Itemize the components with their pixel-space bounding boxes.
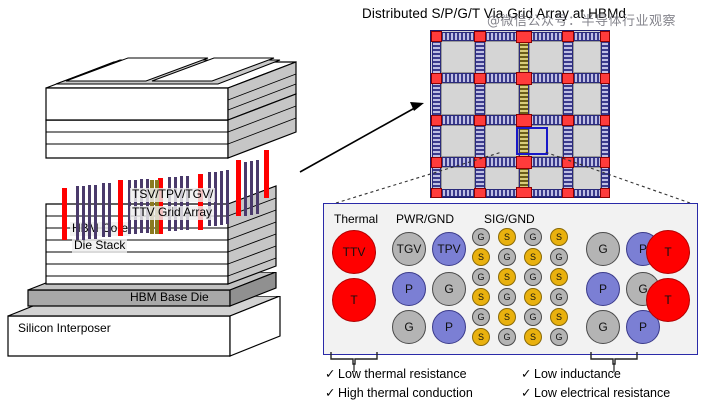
grid-node (474, 73, 486, 84)
grid-node (474, 157, 486, 168)
signal-via-s: S (498, 268, 516, 286)
group-label-thermal: Thermal (334, 212, 378, 226)
signal-via-s: S (472, 248, 490, 266)
grid-cell (573, 83, 601, 115)
grid-node (474, 31, 486, 42)
thermal-via-ttv: TTV (332, 230, 376, 274)
signal-via-s: S (550, 268, 568, 286)
grid-node (516, 114, 532, 127)
ground-via-g: G (524, 308, 542, 326)
grid-node (431, 157, 442, 168)
grid-node (600, 188, 610, 198)
grid-node (431, 115, 442, 126)
hbm-stack-diagram: Silicon Interposer HBM Base Die HBM Core… (0, 0, 330, 370)
ground-via-g: G (472, 308, 490, 326)
signal-via-s: S (498, 228, 516, 246)
grid-node (431, 188, 442, 198)
grid-cell (529, 41, 563, 73)
bullet-item: ✓Low inductance (521, 366, 621, 381)
grid-node (600, 31, 610, 42)
grid-node (600, 73, 610, 84)
via-array-label-line1: TSV/TPV/TGV/ (130, 188, 215, 202)
pwr-via-tpv: TPV (432, 232, 466, 266)
core-stack-label-line2: Die Stack (72, 239, 127, 253)
group-label-pwr-gnd: PWR/GND (396, 212, 454, 226)
grid-node (562, 73, 574, 84)
thermal-via-t: T (332, 278, 376, 322)
grid-node (600, 157, 610, 168)
signal-via-s: S (524, 248, 542, 266)
grid-node (562, 188, 574, 198)
pwr-via-g: G (432, 272, 466, 306)
interposer-label: Silicon Interposer (18, 322, 111, 336)
bullet-text: High thermal conduction (338, 386, 473, 400)
bullet-text: Low electrical resistance (534, 386, 670, 400)
signal-via-s: S (550, 308, 568, 326)
thermal-via-t: T (646, 278, 690, 322)
ground-via-g: G (472, 268, 490, 286)
grid-node (431, 31, 442, 42)
pwr-via-g: G (586, 310, 620, 344)
grid-highlight-region (516, 127, 548, 155)
bullet-item: ✓High thermal conduction (325, 385, 473, 400)
grid-node (474, 188, 486, 198)
bullet-text: Low inductance (534, 367, 621, 381)
grid-cell (485, 167, 519, 191)
thermal-via-t: T (646, 230, 690, 274)
ground-via-g: G (472, 228, 490, 246)
grid-cell (441, 83, 475, 115)
grid-node (516, 31, 532, 43)
check-icon: ✓ (325, 385, 338, 400)
bullet-item: ✓Low thermal resistance (325, 366, 467, 381)
grid-node (516, 156, 532, 169)
watermark: @微信公众号：半导体行业观察 (487, 10, 676, 29)
group-label-sig-gnd: SIG/GND (484, 212, 535, 226)
grid-cell (573, 41, 601, 73)
pwr-via-g: G (392, 310, 426, 344)
grid-cell (485, 83, 519, 115)
grid-cell (485, 125, 519, 157)
bullet-text: Low thermal resistance (338, 367, 467, 381)
signal-via-s: S (550, 228, 568, 246)
signal-via-s: S (472, 328, 490, 346)
ground-via-g: G (524, 228, 542, 246)
sig-gnd-grid: GSGSSGSGGSGSSGSGGSGSSGSG (472, 228, 580, 348)
grid-cell (573, 167, 601, 191)
grid-cell (573, 125, 601, 157)
check-icon: ✓ (521, 366, 534, 381)
signal-via-s: S (472, 288, 490, 306)
ground-via-g: G (550, 328, 568, 346)
ground-via-g: G (498, 288, 516, 306)
grid-cell (485, 41, 519, 73)
ground-via-g: G (550, 288, 568, 306)
signal-via-s: S (524, 328, 542, 346)
grid-cell (529, 167, 563, 191)
grid-node (562, 157, 574, 168)
bullet-item: ✓Low electrical resistance (521, 385, 670, 400)
via-grid-array (430, 30, 610, 198)
via-array-label-line2: TTV Grid Array (130, 206, 214, 220)
grid-node (562, 115, 574, 126)
base-die-label: HBM Base Die (130, 291, 209, 305)
signal-via-s: S (498, 308, 516, 326)
ground-via-g: G (498, 248, 516, 266)
pwr-via-g: G (586, 232, 620, 266)
grid-node (516, 187, 532, 198)
check-icon: ✓ (521, 385, 534, 400)
pwr-via-p: P (432, 310, 466, 344)
grid-cell (441, 125, 475, 157)
ground-via-g: G (524, 268, 542, 286)
top-die-shape (40, 36, 330, 186)
grid-node (562, 31, 574, 42)
signal-via-s: S (524, 288, 542, 306)
grid-node (431, 73, 442, 84)
pwr-via-tgv: TGV (392, 232, 426, 266)
ground-via-g: G (498, 328, 516, 346)
grid-cell (529, 83, 563, 115)
ground-via-g: G (550, 248, 568, 266)
check-icon: ✓ (325, 366, 338, 381)
grid-node (474, 115, 486, 126)
grid-cell (441, 41, 475, 73)
via-legend-panel: Thermal PWR/GND SIG/GND TTV T TGV TPV P … (323, 203, 698, 355)
grid-node (600, 115, 610, 126)
pwr-via-p: P (392, 272, 426, 306)
grid-cell (441, 167, 475, 191)
pwr-via-p: P (586, 272, 620, 306)
grid-node (516, 72, 532, 85)
